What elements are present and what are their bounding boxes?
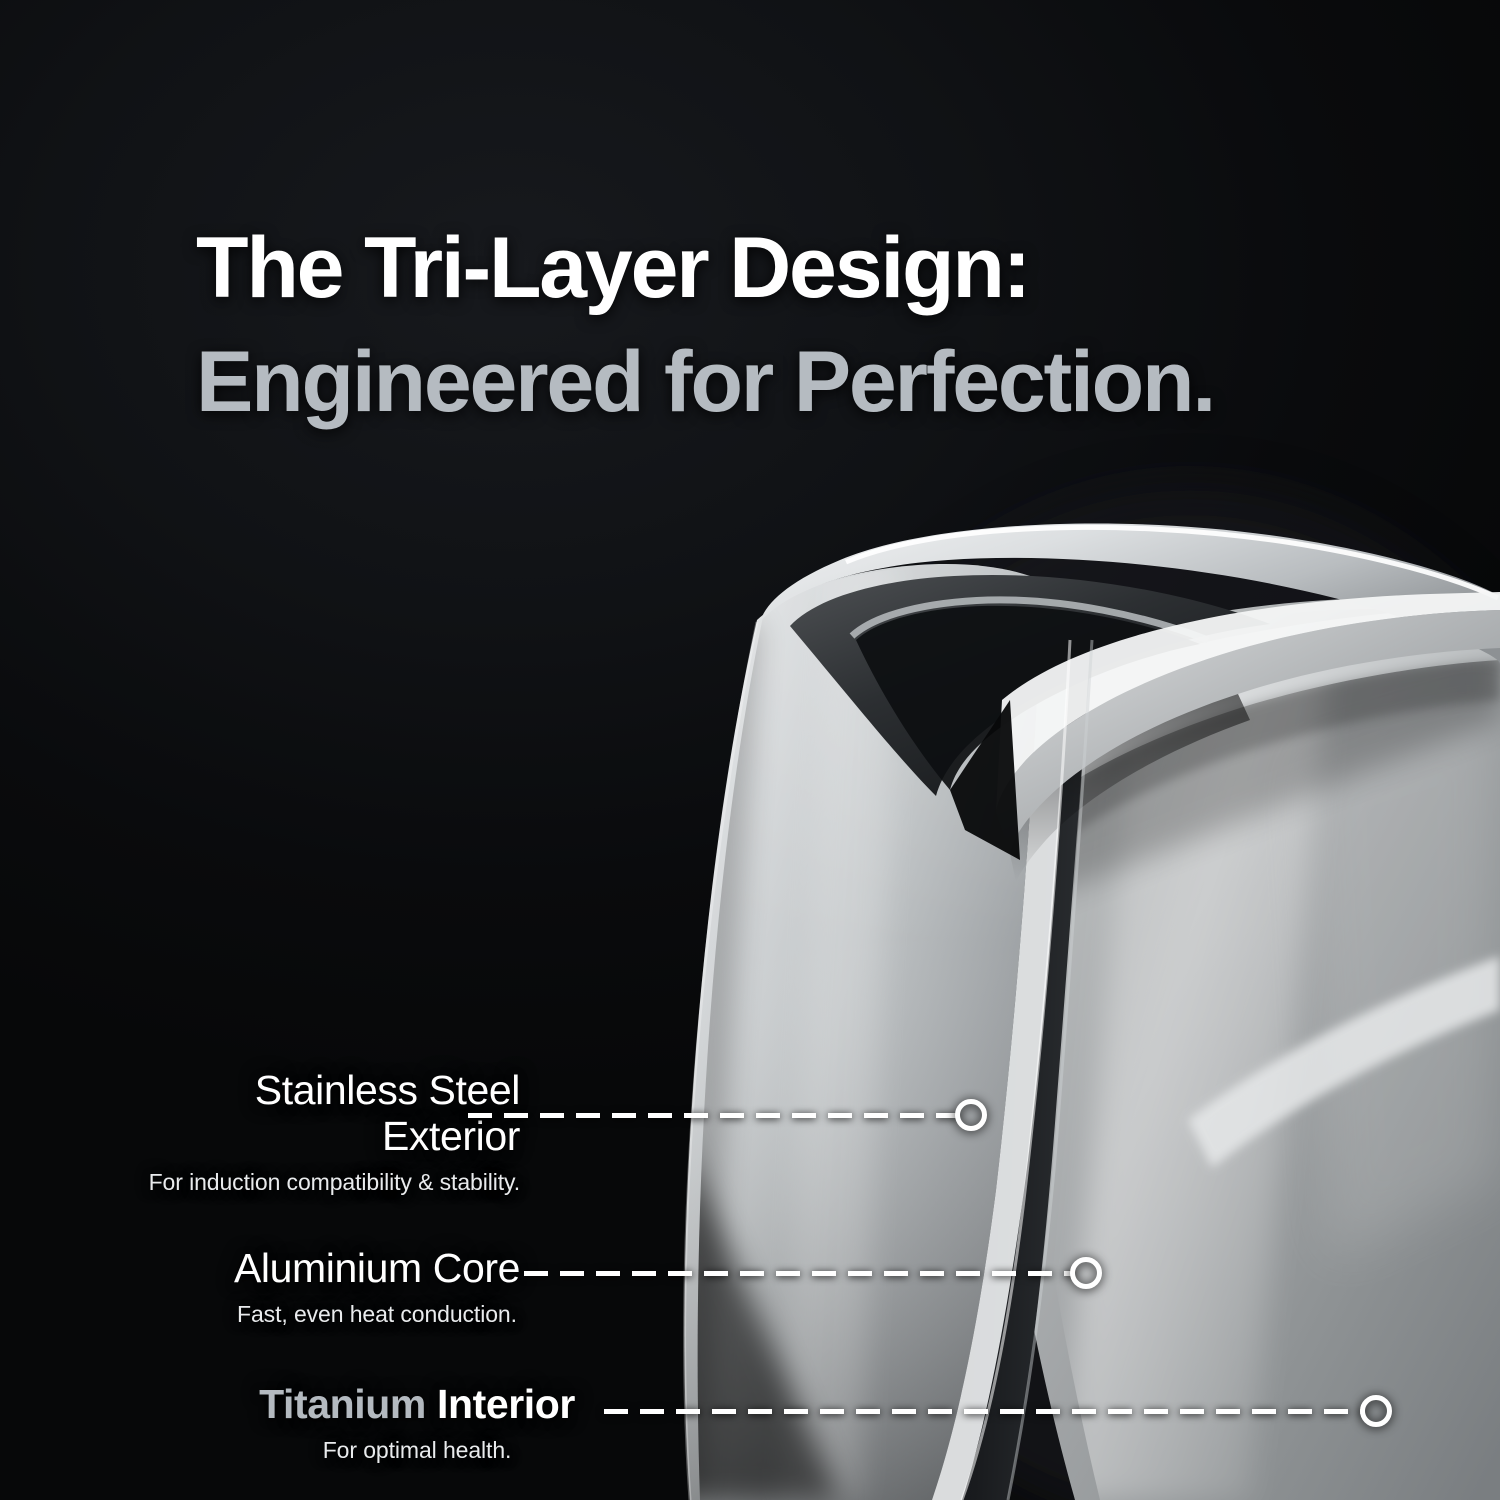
callout-subtitle: For optimal health. [259, 1437, 575, 1464]
promo-graphic-canvas: The Tri-Layer Design: Engineered for Per… [0, 0, 1500, 1500]
callout-subtitle: For induction compatibility & stability. [149, 1169, 520, 1196]
callout-title-part-2: Interior [437, 1381, 575, 1427]
callout-subtitle: Fast, even heat conduction. [234, 1301, 520, 1328]
leader-line-stainless-steel-exterior [468, 1113, 958, 1118]
callout-titanium-interior[interactable]: Titanium Interior For optimal health. [60, 1382, 575, 1464]
callout-title: Aluminium Core [234, 1246, 520, 1292]
callout-title: Stainless Steel Exterior [149, 1068, 520, 1160]
callout-textblock: Aluminium Core Fast, even heat conductio… [234, 1246, 520, 1328]
leader-marker-aluminium-core[interactable] [1070, 1257, 1102, 1289]
leader-line-titanium-interior [604, 1409, 1364, 1414]
callout-stainless-steel-exterior[interactable]: Stainless Steel Exterior For induction c… [60, 1068, 520, 1196]
callout-title: Titanium Interior [259, 1382, 575, 1428]
leader-marker-titanium-interior[interactable] [1360, 1395, 1392, 1427]
leader-marker-stainless-steel-exterior[interactable] [955, 1099, 987, 1131]
callout-title-part-1: Titanium [259, 1381, 437, 1427]
callout-textblock: Titanium Interior For optimal health. [259, 1382, 575, 1464]
callout-aluminium-core[interactable]: Aluminium Core Fast, even heat conductio… [60, 1246, 520, 1328]
leader-line-aluminium-core [524, 1271, 1074, 1276]
callout-textblock: Stainless Steel Exterior For induction c… [149, 1068, 520, 1196]
